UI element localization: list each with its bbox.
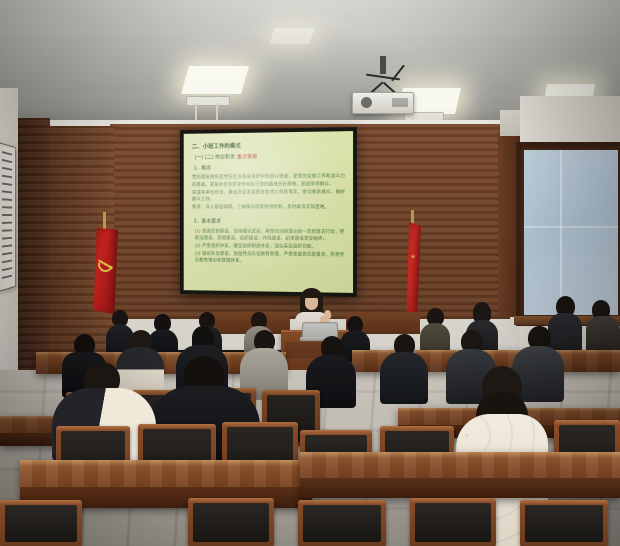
- slide-list-item: (3) 强化队伍建设。加强党员队伍教育管理，严把发展党员质量关，完善党员教育培训…: [195, 250, 345, 265]
- lecturer-hand-gesture: [324, 309, 332, 319]
- projection-screen-surface: 二、小班工作的模式 (一) (二) 岗位职责 重点掌握 1、概念 党的基层组织是…: [184, 131, 353, 293]
- classroom-photo: 二、小班工作的模式 (一) (二) 岗位职责 重点掌握 1、概念 党的基层组织是…: [0, 0, 620, 546]
- slide-section-2-head: 2、基本要求: [194, 219, 345, 227]
- ceiling-projector: [352, 56, 414, 112]
- artwork-calligraphy-strokes: [2, 151, 12, 283]
- desk-row-front-right: [300, 452, 620, 498]
- chair-nearest[interactable]: [520, 500, 608, 546]
- slide-content: 二、小班工作的模式 (一) (二) 岗位职责 重点掌握 1、概念 党的基层组织是…: [192, 141, 345, 287]
- slide-subtitle-text: (一) (二) 岗位职责: [195, 154, 236, 160]
- recessed-panel-light-far: [269, 28, 314, 44]
- calligraphy-scroll-artwork: [0, 142, 16, 292]
- student-mid-right: [380, 334, 428, 404]
- projector-lens-icon: [361, 97, 372, 108]
- slide-subtitle: (一) (二) 岗位职责 重点掌握: [192, 152, 345, 162]
- chair-nearest[interactable]: [0, 500, 82, 546]
- flag-cloth: [92, 228, 118, 314]
- slide-section-1-head: 1、概念: [194, 164, 345, 173]
- projection-screen: 二、小班工作的模式 (一) (二) 岗位职责 重点掌握 1、概念 党的基层组织是…: [180, 127, 357, 297]
- lecturer-fringe: [304, 292, 319, 298]
- chair-nearest[interactable]: [410, 498, 496, 546]
- star-icon: [410, 254, 416, 259]
- projector-vent: [392, 98, 408, 107]
- slide-paragraph: 党的基层组织是党在社会基层组织中的战斗堡垒，是党的全部工作和战斗力的基础。其基本…: [192, 173, 345, 188]
- slide-list-item: (1) 加强思想建设。坚持理论武装，用党的创新理论统一思想意志行动，把政治建设、…: [195, 227, 345, 242]
- hanging-light-fixture-left: [186, 96, 230, 106]
- slide-paragraph: 完成本单位任务，推动改革发展稳定各项工作的落实，密切联系群众，做好群众工作。: [192, 188, 345, 203]
- projector-body: [352, 92, 414, 114]
- slide-subtitle-highlight: 重点掌握: [237, 154, 257, 160]
- chair-nearest[interactable]: [298, 500, 386, 546]
- student-torso: [380, 352, 428, 404]
- chair-nearest[interactable]: [188, 498, 274, 546]
- roller-blind[interactable]: [524, 150, 618, 315]
- flag-cloth: [405, 222, 421, 318]
- student-edge-right: [586, 300, 620, 356]
- hammer-and-sickle-icon: [98, 255, 113, 273]
- slide-list-item: (2) 严密组织体系。健全组织制度体系，强化基层组织功能。: [195, 242, 345, 250]
- communist-party-flag: [92, 222, 118, 314]
- slide-title: 二、小班工作的模式: [192, 141, 345, 152]
- national-flag: [403, 218, 423, 318]
- slide-paragraph: 要求：深入基层调研，了解群众所思所想所盼，及时解决实际困难。: [192, 203, 345, 210]
- recessed-panel-light-left: [181, 66, 249, 94]
